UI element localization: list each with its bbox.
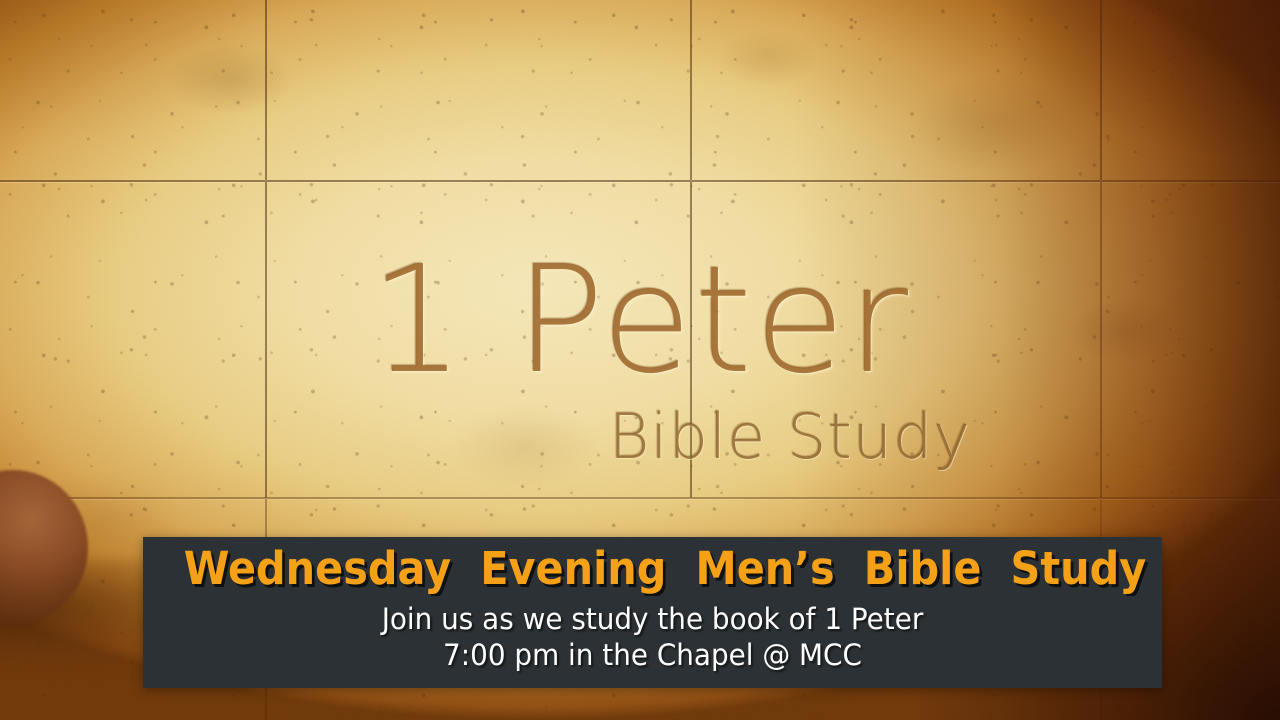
panel-line-time-location: 7:00 pm in the Chapel @ MCC	[163, 637, 1141, 674]
info-panel: Wednesday Evening Men’s Bible Study Join…	[143, 537, 1162, 688]
panel-line-invitation: Join us as we study the book of 1 Peter	[163, 601, 1141, 638]
panel-title: Wednesday Evening Men’s Bible Study	[184, 545, 1121, 594]
announcement-slide: 1 Peter Bible Study Wednesday Evening Me…	[0, 0, 1280, 720]
